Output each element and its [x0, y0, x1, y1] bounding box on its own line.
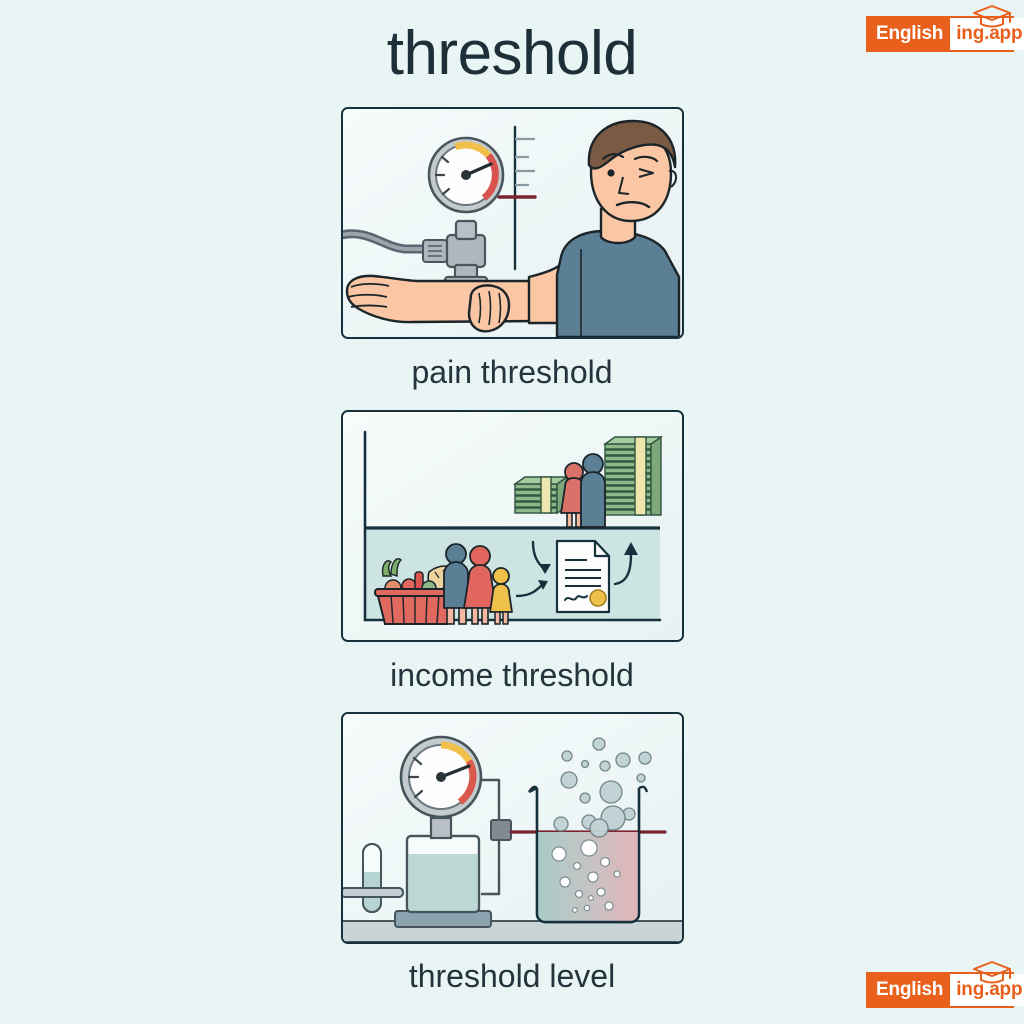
- eye-left: [607, 169, 614, 176]
- patient-arm: [347, 276, 539, 322]
- pain-threshold-illustration: [343, 109, 682, 337]
- pressure-gauge-icon: [429, 138, 503, 212]
- illustration-panel-pain-threshold: [341, 107, 684, 339]
- tank-fill: [407, 854, 479, 912]
- document-seal: [590, 590, 606, 606]
- family-child-head: [493, 568, 509, 584]
- word-illustration-page: threshold English ing.app English ing.ap…: [0, 0, 1024, 1024]
- money-stack-tall: [605, 437, 661, 515]
- family-mother-head: [470, 546, 490, 566]
- benefit-document-icon: [557, 541, 609, 612]
- gauge-neck: [431, 818, 451, 838]
- caption-threshold-level: threshold level: [0, 958, 1024, 995]
- graduation-cap-icon: [970, 3, 1014, 29]
- money-stack-small: [515, 477, 567, 513]
- caption-income-threshold: income threshold: [0, 657, 1024, 694]
- affluent-couple: [561, 454, 605, 527]
- money-band: [635, 437, 646, 515]
- brand-logo-top[interactable]: English ing.app: [866, 16, 1014, 52]
- money-band: [541, 477, 551, 513]
- illustration-panel-threshold-level: [341, 712, 684, 944]
- gripping-hand: [469, 285, 509, 331]
- clamp: [343, 888, 403, 897]
- income-threshold-illustration: [343, 412, 682, 640]
- tank-base: [395, 911, 491, 927]
- pressure-gauge-icon: [401, 737, 481, 817]
- hose-connector: [423, 240, 447, 262]
- illustration-panel-income-threshold: [341, 410, 684, 642]
- threshold-level-illustration: [343, 714, 682, 942]
- brand-name-left: English: [868, 18, 950, 50]
- caption-pain-threshold: pain threshold: [0, 354, 1024, 391]
- lab-bench: [343, 921, 682, 942]
- shirt: [557, 231, 679, 337]
- valve: [491, 820, 511, 840]
- family-father-head: [446, 544, 466, 564]
- couple-man-head: [583, 454, 603, 474]
